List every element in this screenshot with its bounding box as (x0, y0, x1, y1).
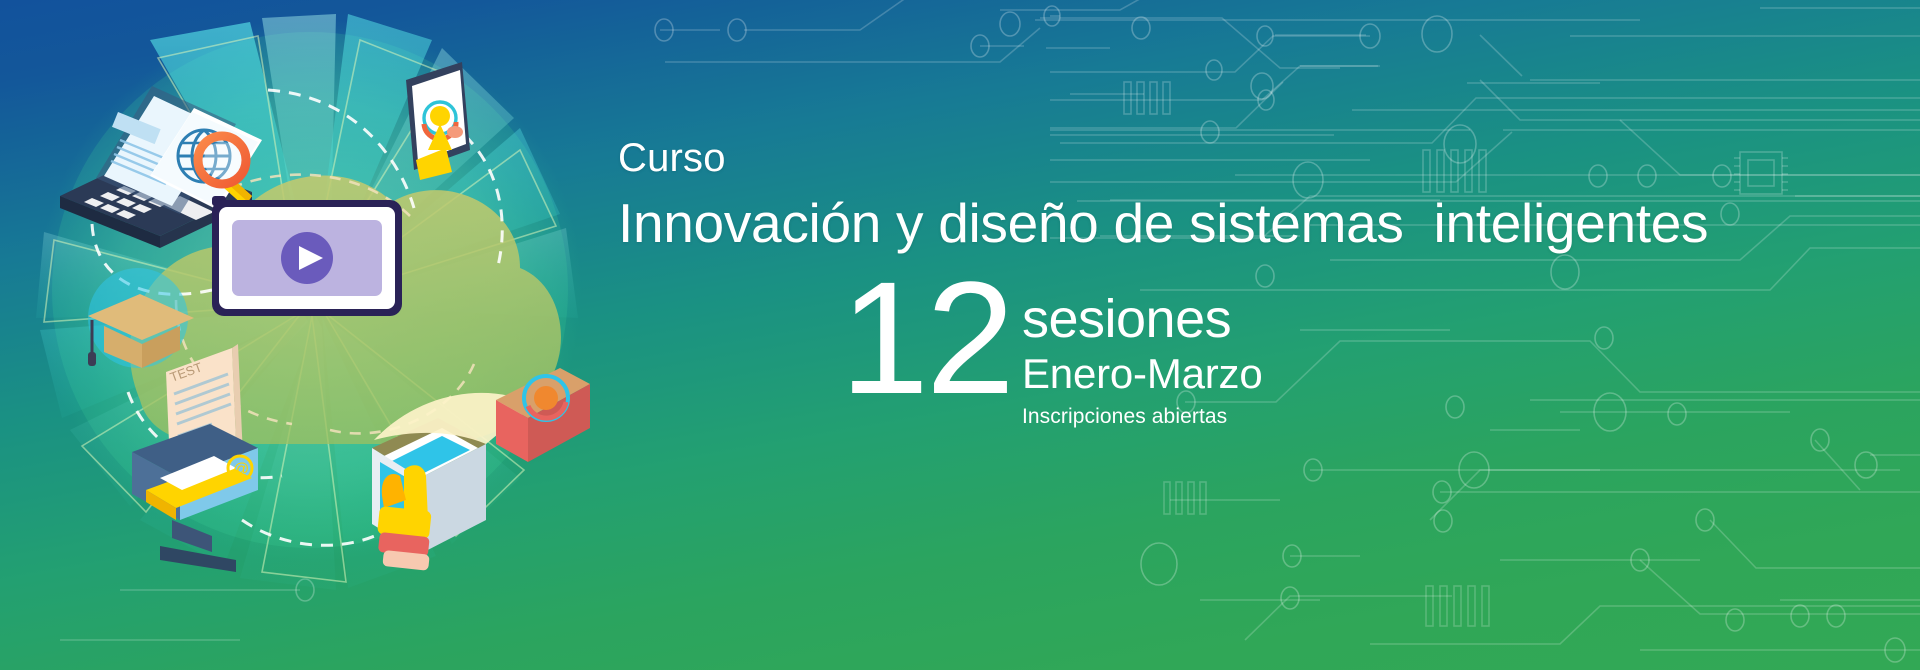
elearning-illustration: TEST @ (0, 0, 620, 670)
pin-bars-icon-3 (1426, 586, 1489, 626)
sessions-block: 12 sesiones Enero-Marzo Inscripciones ab… (840, 272, 1263, 428)
kicker-text: Curso (618, 138, 1918, 178)
enrollment-status: Inscripciones abiertas (1022, 405, 1263, 428)
page-title: Innovación y diseño de sistemas intelige… (618, 194, 1918, 253)
course-dates: Enero-Marzo (1022, 350, 1263, 397)
video-player-icon (212, 196, 402, 316)
svg-text:@: @ (233, 461, 249, 478)
sessions-label: sesiones (1022, 292, 1263, 346)
pin-bars-icon (1124, 82, 1170, 114)
course-banner: TEST @ (0, 0, 1920, 670)
sessions-count: 12 (840, 268, 1012, 409)
headline-block: Curso Innovación y diseño de sistemas in… (618, 138, 1918, 253)
pointing-hand (377, 465, 432, 571)
pin-bars-icon-4 (1164, 482, 1206, 514)
